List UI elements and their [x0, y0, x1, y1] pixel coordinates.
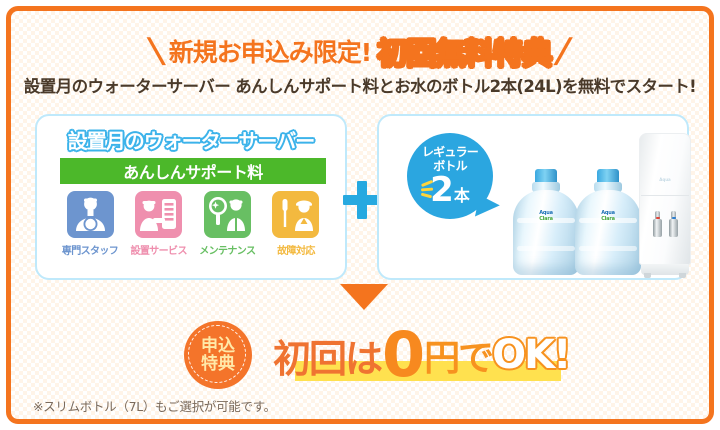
cta-ok: OK!	[492, 332, 569, 378]
server-foot	[679, 273, 686, 278]
support-fee-bar: あんしんサポート料	[60, 158, 326, 184]
support-icon-row: 専門スタッフ	[59, 191, 327, 269]
water-bottle: Aqua Clara	[575, 169, 641, 275]
headline-emphasis-text: 初回無料特典	[377, 29, 551, 73]
server-hot-tap-icon	[653, 211, 662, 237]
headline-slash-left: \	[146, 34, 167, 68]
water-server: Aqua	[639, 133, 691, 279]
support-icon-label: 専門スタッフ	[62, 242, 118, 257]
bubble-line1: レギュラー	[422, 145, 478, 159]
headline-primary-text: 新規お申込み限定!	[169, 33, 371, 69]
bottle-body	[575, 190, 641, 275]
support-icon-item: 専門スタッフ	[59, 191, 121, 269]
support-icon-label: 設置サービス	[130, 242, 186, 257]
bubble-unit: 本	[454, 186, 470, 205]
bottle-brand-label: Aqua Clara	[529, 209, 563, 224]
server-seam	[641, 195, 689, 196]
support-icon-label: 故障対応	[277, 242, 315, 257]
server-foot	[644, 273, 651, 278]
bottle-cap	[597, 169, 619, 183]
support-icon-label: メンテナンス	[199, 242, 255, 257]
cta-text: 初回は 0 円で OK!	[273, 321, 573, 389]
offer-badge-line2: 特典	[201, 354, 235, 374]
tap-indicator	[656, 217, 660, 219]
repair-service-icon	[272, 191, 319, 238]
plus-icon	[343, 181, 381, 219]
tap-head	[653, 219, 662, 237]
server-body	[639, 133, 691, 265]
support-icon-item: 故障対応	[265, 191, 327, 269]
promo-banner: \ 新規お申込み限定! 初回無料特典 / 設置月のウォーターサーバー あんしんサ…	[0, 0, 720, 430]
offer-badge-line1: 申込	[201, 336, 235, 356]
footnote: ※スリムボトル（7L）もご選択が可能です。	[33, 396, 276, 415]
cta-currency: 円で	[424, 329, 492, 381]
maintenance-icon	[204, 191, 251, 238]
banner-frame: \ 新規お申込み限定! 初回無料特典 / 設置月のウォーターサーバー あんしんサ…	[6, 6, 714, 424]
tap-indicator	[672, 217, 676, 219]
support-panel: 設置月のウォーターサーバー あんしんサポート料	[35, 114, 347, 280]
offer-badge-text: 申込 特典	[201, 337, 235, 373]
headline-subtitle: 設置月のウォーターサーバー あんしんサポート料とお水のボトル2本(24L)を無料…	[11, 73, 709, 97]
server-logo: Aqua	[656, 177, 674, 183]
bottle-brand-line2: Clara	[539, 217, 553, 222]
support-staff-icon	[67, 191, 114, 238]
installation-service-icon	[135, 191, 182, 238]
support-icon-item: 設置サービス	[128, 191, 190, 269]
bottle-cap	[535, 169, 557, 183]
offer-badge: 申込 特典	[184, 321, 252, 389]
headline-slash-right: /	[553, 34, 574, 68]
headline: \ 新規お申込み限定! 初回無料特典 /	[11, 31, 709, 71]
bottle-brand-line2: Clara	[601, 217, 615, 222]
bubble-quantity: 2本	[407, 173, 493, 207]
bottle-brand-label: Aqua Clara	[591, 209, 625, 224]
support-fee-label: あんしんサポート料	[123, 159, 263, 183]
support-icon-item: メンテナンス	[196, 191, 258, 269]
arrow-down-icon	[340, 284, 388, 310]
support-panel-title: 設置月のウォーターサーバー	[37, 125, 345, 154]
bottle-body	[513, 190, 579, 275]
water-bottle: Aqua Clara	[513, 169, 579, 275]
cta-amount: 0	[382, 329, 423, 382]
tap-head	[669, 219, 678, 237]
cta-block: 初回は 0 円で OK!	[273, 321, 573, 389]
cta-prefix: 初回は	[273, 328, 381, 383]
server-cold-tap-icon	[669, 211, 678, 237]
regular-bottle-bubble: レギュラー ボトル 2本	[407, 133, 493, 219]
bubble-number: 2	[430, 170, 454, 210]
